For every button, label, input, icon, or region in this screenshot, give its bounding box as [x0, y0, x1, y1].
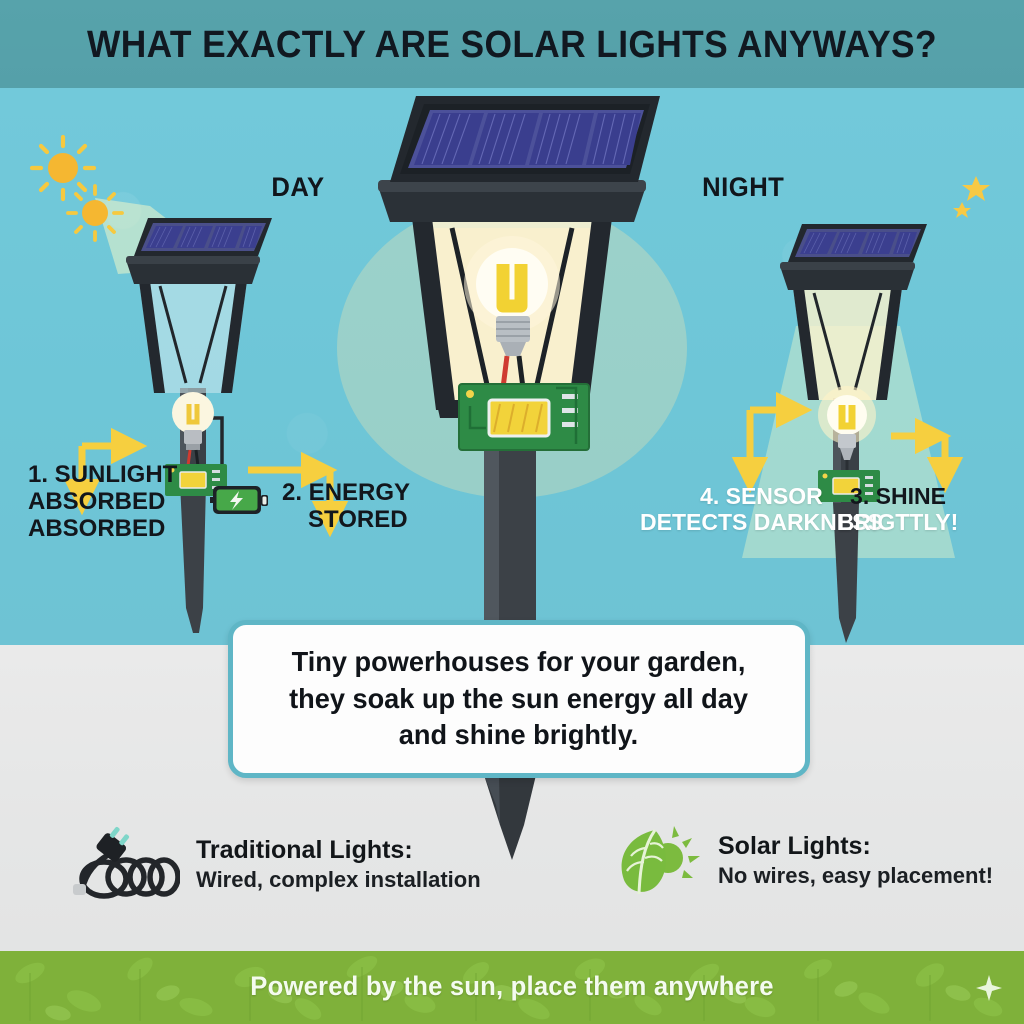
- infographic-root: WHAT EXACTLY ARE SOLAR LIGHTS ANYWAYS?: [0, 0, 1024, 1024]
- step-1-line1: 1. SUNLIGHT: [28, 462, 177, 489]
- crescent-moon-stars-icon: [918, 150, 990, 226]
- comparison-traditional-subtitle: Wired, complex installation: [196, 866, 481, 895]
- step-3-line1: 3. SHINE: [838, 484, 959, 510]
- callout-line1: Tiny powerhouses for your garden,: [292, 646, 746, 677]
- step-1-line3: ABSORBED: [28, 516, 177, 543]
- sun-icon: [32, 137, 94, 199]
- callout-line2: they soak up the sun energy all day: [290, 683, 749, 714]
- header-band: WHAT EXACTLY ARE SOLAR LIGHTS ANYWAYS?: [0, 0, 1024, 88]
- footer-text: Powered by the sun, place them anywhere: [26, 971, 999, 1002]
- comparison-traditional-title: Traditional Lights:: [196, 835, 481, 866]
- step-2-line2: STORED: [308, 507, 410, 534]
- callout-line3: and shine brightly.: [399, 719, 638, 750]
- battery-charging-icon: [210, 478, 274, 522]
- comparison-solar-subtitle: No wires, easy placement!: [718, 862, 993, 891]
- leaf-sun-icon: [614, 822, 702, 900]
- comparison-traditional-text: Traditional Lights: Wired, complex insta…: [196, 835, 481, 895]
- step-3-line2: BRIGTTLY!: [838, 510, 959, 536]
- step-label-energy-stored: 2. ENERGY STORED: [282, 480, 410, 534]
- sun-icon-secondary: [68, 186, 122, 240]
- step-label-sunlight-absorbed: 1. SUNLIGHT ABSORBED ABSORBED: [28, 462, 177, 543]
- comparison-traditional: Traditional Lights: Wired, complex insta…: [60, 822, 481, 908]
- sparkle-icon: [976, 975, 1002, 1001]
- page-title: WHAT EXACTLY ARE SOLAR LIGHTS ANYWAYS?: [36, 24, 988, 67]
- solar-lamp-day-left: [126, 218, 272, 633]
- callout-box: Tiny powerhouses for your garden, they s…: [228, 620, 810, 778]
- step-label-shine-brightly: 3. SHINE BRIGTTLY!: [838, 484, 959, 536]
- step-1-line2: ABSORBED: [28, 489, 177, 516]
- comparison-solar-title: Solar Lights:: [718, 831, 993, 862]
- coiled-cable-plug-icon: [60, 822, 180, 908]
- comparison-solar-text: Solar Lights: No wires, easy placement!: [718, 831, 993, 891]
- footer-banner: Powered by the sun, place them anywhere: [0, 951, 1024, 1024]
- comparison-solar: Solar Lights: No wires, easy placement!: [614, 822, 993, 900]
- night-label: NIGHT: [702, 172, 784, 203]
- step-2-line1: 2. ENERGY: [282, 480, 410, 507]
- day-label: DAY: [271, 172, 324, 203]
- solar-lamp-hero-center: [337, 96, 687, 645]
- callout-text: Tiny powerhouses for your garden, they s…: [276, 644, 762, 753]
- scene-vector-layer: [0, 88, 1024, 645]
